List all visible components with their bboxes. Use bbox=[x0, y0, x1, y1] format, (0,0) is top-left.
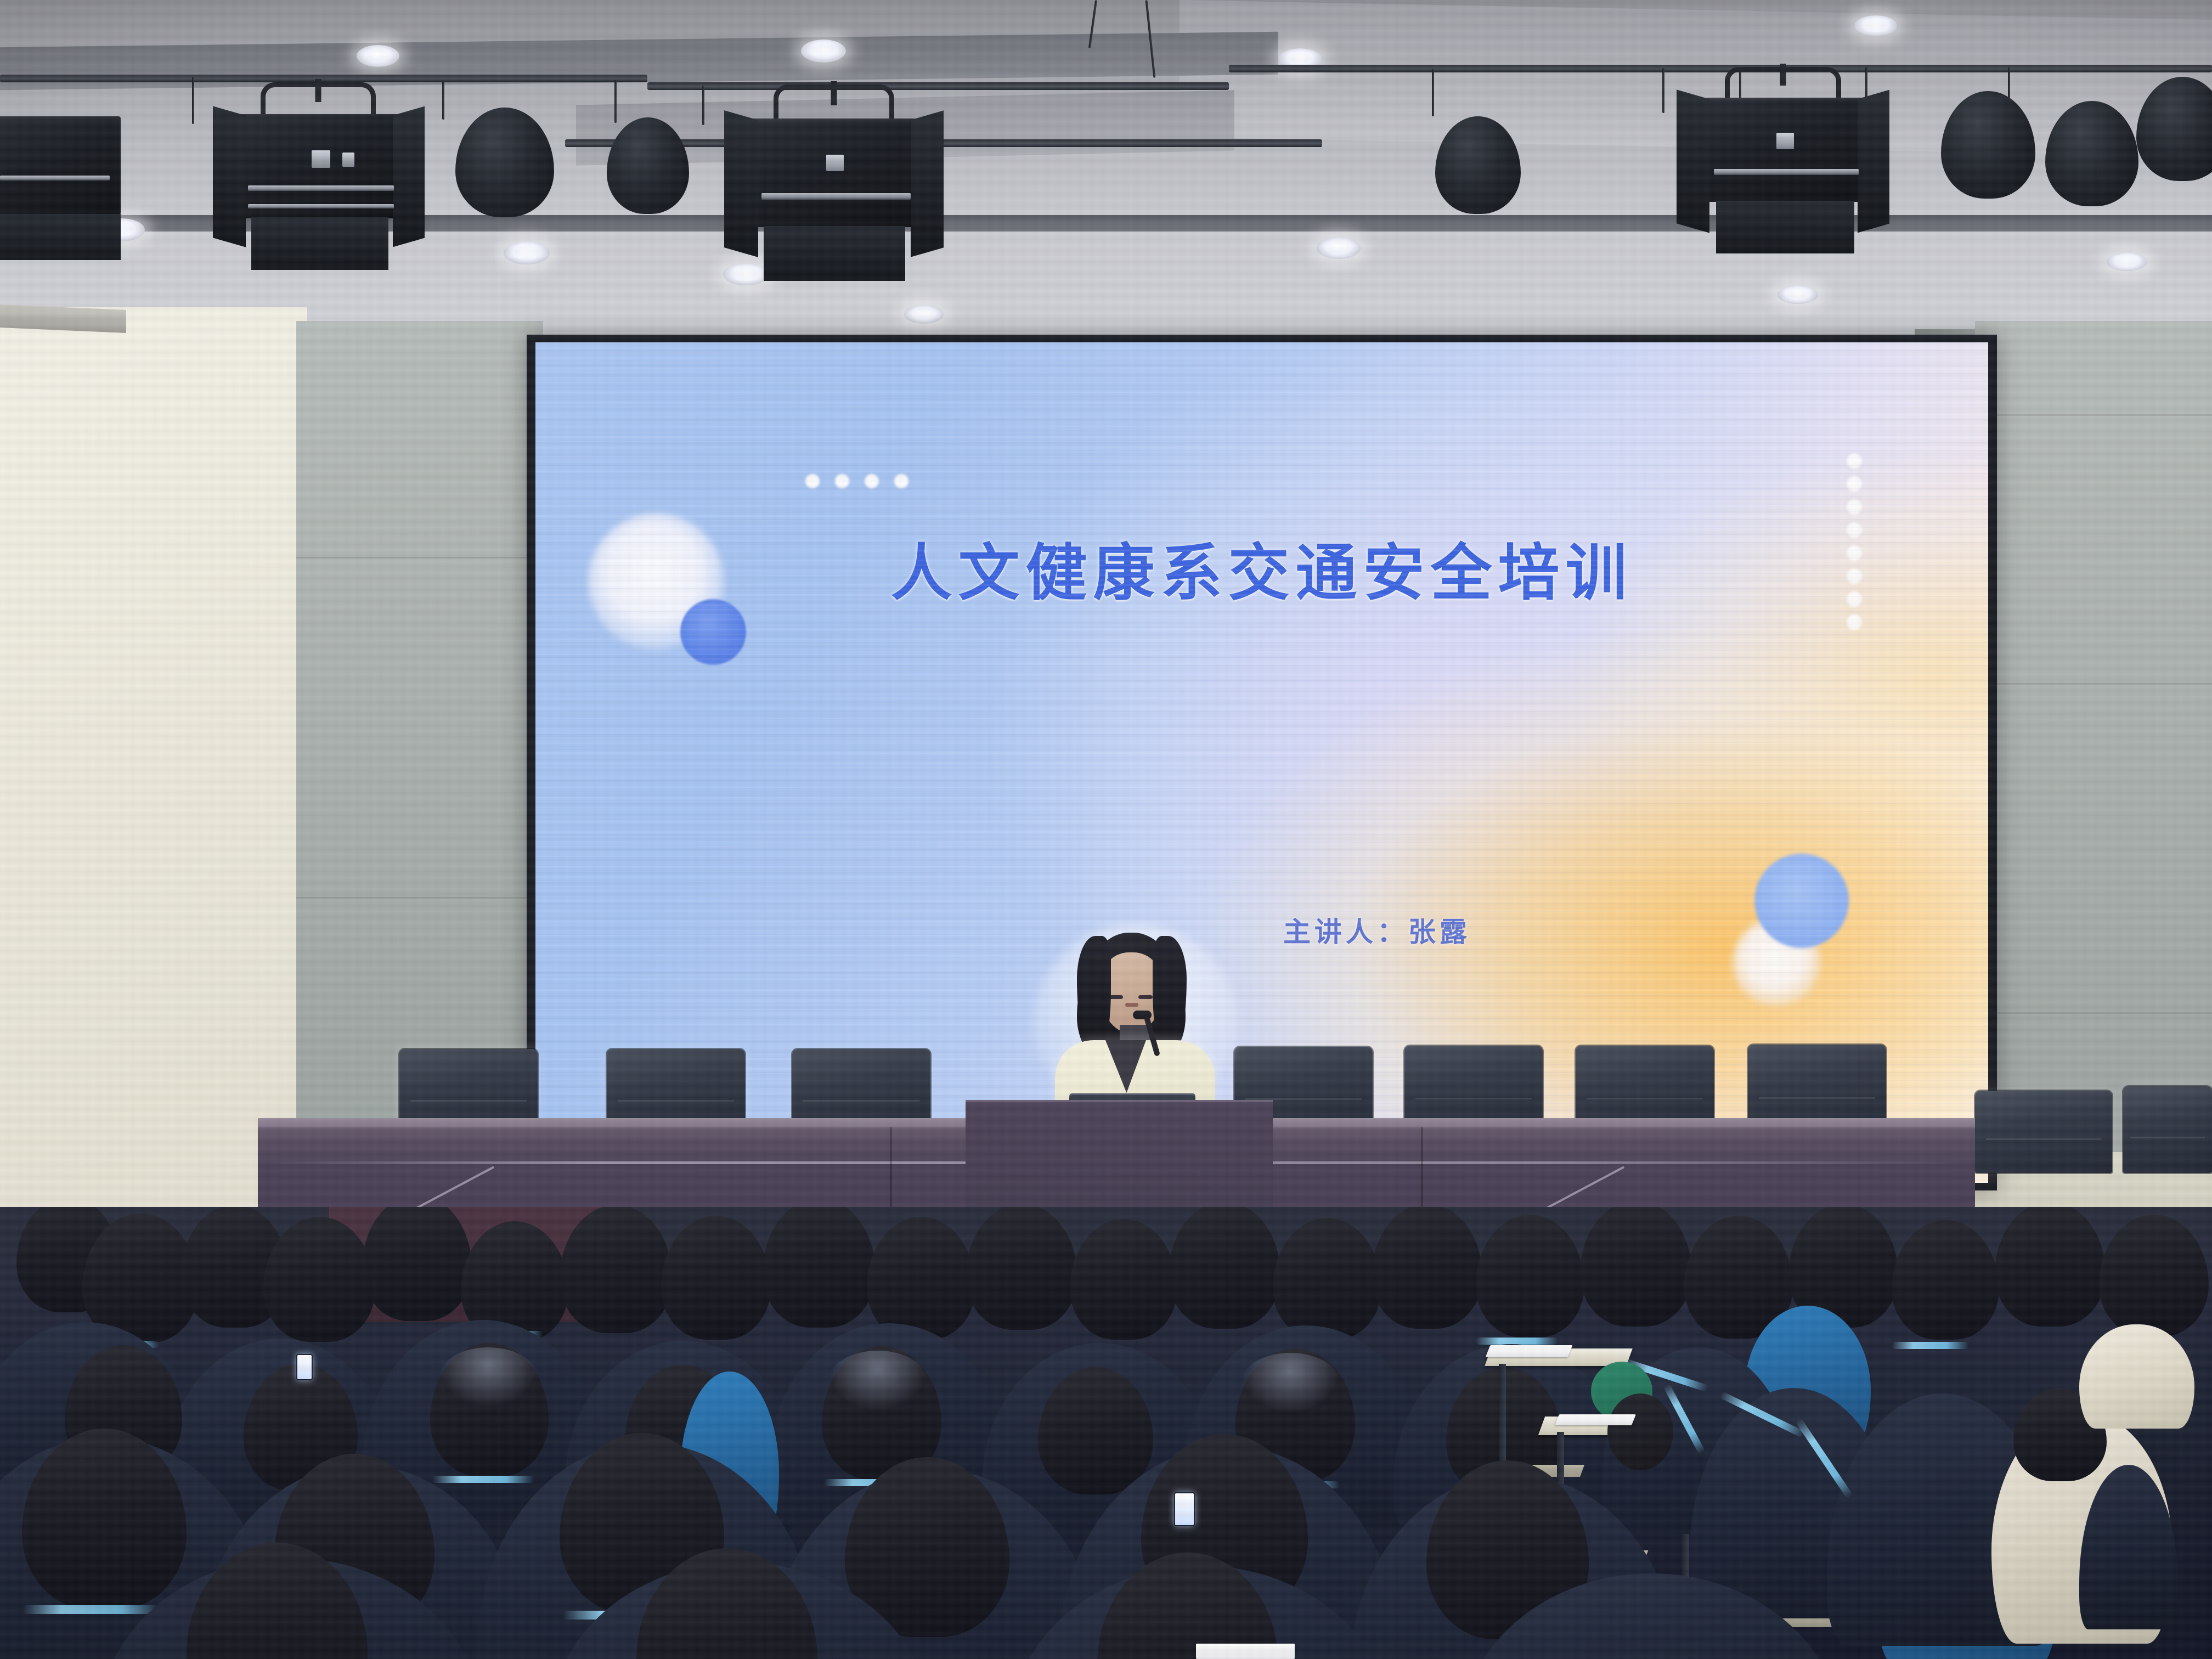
fixture-body bbox=[0, 116, 121, 215]
barn-door bbox=[764, 226, 905, 281]
fixture-knob bbox=[1776, 133, 1794, 149]
stage-light-fixture bbox=[1673, 67, 1893, 259]
panel-seam bbox=[1975, 1012, 2212, 1014]
downlight bbox=[357, 45, 399, 67]
fixture-lens bbox=[1714, 169, 1859, 175]
fixture-reflector bbox=[2136, 77, 2212, 181]
phone-screen bbox=[1174, 1492, 1195, 1526]
paper-note bbox=[1555, 1414, 1636, 1425]
audience-head bbox=[560, 1207, 673, 1333]
barn-door bbox=[911, 110, 944, 257]
slide-subtitle: 主讲人：张露 bbox=[535, 910, 1988, 950]
audience-head bbox=[763, 1207, 876, 1328]
audience bbox=[0, 1207, 2212, 1659]
lighting-rail bbox=[0, 75, 647, 82]
hair-highlight bbox=[1241, 1353, 1340, 1413]
phone-screen bbox=[296, 1354, 313, 1380]
slide-title: 人文健康系交通安全培训 bbox=[535, 523, 1988, 612]
wall-left bbox=[0, 307, 307, 1229]
fixture-reflector bbox=[1435, 116, 1521, 214]
uniform-collar-accent bbox=[432, 1476, 534, 1483]
barn-door bbox=[724, 110, 758, 257]
fixture-lens bbox=[248, 185, 394, 191]
downlight bbox=[904, 305, 944, 324]
ponytail bbox=[1607, 1393, 1673, 1470]
fixture-lens bbox=[0, 176, 110, 180]
audience-head bbox=[966, 1207, 1077, 1330]
panel-seam bbox=[1975, 683, 2212, 685]
downlight bbox=[1778, 285, 1818, 304]
dot bbox=[1847, 453, 1862, 469]
hair-highlight bbox=[828, 1351, 927, 1411]
fixture-reflector bbox=[1941, 91, 2035, 199]
audience-head bbox=[1169, 1207, 1280, 1329]
stage-light-fixture bbox=[0, 93, 148, 269]
fixture-knob bbox=[312, 150, 330, 168]
fixture-lens bbox=[761, 193, 911, 200]
fixture-reflector bbox=[2045, 101, 2138, 206]
barn-door bbox=[1858, 90, 1889, 233]
paper-note bbox=[1486, 1345, 1573, 1357]
barn-door bbox=[1677, 89, 1709, 233]
downlight bbox=[1854, 15, 1897, 36]
uniform-collar-accent bbox=[1892, 1342, 1968, 1349]
fixture-body bbox=[752, 119, 916, 227]
stage-light-fixture bbox=[208, 82, 428, 274]
fixture-stem bbox=[1780, 64, 1786, 86]
stage-light-fixture bbox=[1937, 82, 2046, 219]
uniform-collar-accent bbox=[1476, 1338, 1558, 1345]
suspension-wire bbox=[1662, 68, 1664, 113]
stage-light-fixture bbox=[719, 84, 949, 282]
barn-door bbox=[251, 217, 388, 270]
lecture-hall-photo: 人文健康系交通安全培训 主讲人：张露 bbox=[0, 0, 2212, 1659]
suspension-wire bbox=[442, 80, 444, 120]
ceiling bbox=[0, 0, 2212, 340]
paper-note bbox=[1196, 1644, 1295, 1659]
fixture-stem bbox=[831, 81, 837, 105]
downlight bbox=[1317, 237, 1361, 259]
presenter-eye bbox=[1138, 995, 1153, 999]
presenter-mouth bbox=[1125, 1003, 1138, 1007]
fixture-knob bbox=[342, 153, 354, 167]
presenter-hair-strand bbox=[1077, 936, 1111, 1054]
audience-head bbox=[362, 1207, 472, 1321]
panel-seam bbox=[1975, 414, 2212, 416]
downlight bbox=[504, 241, 550, 264]
fixture-reflector bbox=[607, 117, 689, 214]
fixture-reflector bbox=[455, 108, 554, 217]
suspension-wire bbox=[192, 77, 194, 124]
dot bbox=[865, 474, 879, 488]
fixture-lens bbox=[248, 204, 394, 208]
stage-chair bbox=[1975, 1091, 2112, 1173]
dot bbox=[1847, 614, 1862, 630]
panel-seam bbox=[296, 557, 543, 558]
fixture-knob bbox=[826, 155, 844, 171]
suspension-wire bbox=[702, 86, 704, 125]
dot bbox=[894, 474, 909, 488]
decorative-dot-row bbox=[805, 474, 909, 488]
barn-door bbox=[0, 214, 121, 260]
downlight bbox=[2107, 252, 2147, 271]
dot bbox=[805, 474, 820, 488]
barn-door bbox=[213, 106, 246, 247]
uniform-collar-accent bbox=[23, 1605, 160, 1614]
dot bbox=[1847, 499, 1862, 515]
stage-light-fixture bbox=[2134, 69, 2212, 206]
barn-door bbox=[1716, 201, 1854, 253]
panel-seam bbox=[296, 897, 543, 899]
stage-light-fixture bbox=[450, 97, 565, 239]
audience-head bbox=[1372, 1207, 1482, 1329]
fixture-body bbox=[1705, 98, 1864, 202]
barn-door bbox=[393, 106, 425, 247]
audience-head bbox=[1995, 1207, 2106, 1327]
downlight bbox=[801, 39, 846, 63]
dot bbox=[1847, 476, 1862, 492]
stage-chair bbox=[2123, 1086, 2212, 1173]
fixture-stem bbox=[315, 79, 321, 102]
dot bbox=[835, 474, 849, 488]
hair-highlight bbox=[439, 1347, 538, 1408]
stage-light-fixture bbox=[1432, 110, 1536, 236]
stage-light-fixture bbox=[603, 108, 702, 234]
audience-head bbox=[1580, 1207, 1692, 1327]
